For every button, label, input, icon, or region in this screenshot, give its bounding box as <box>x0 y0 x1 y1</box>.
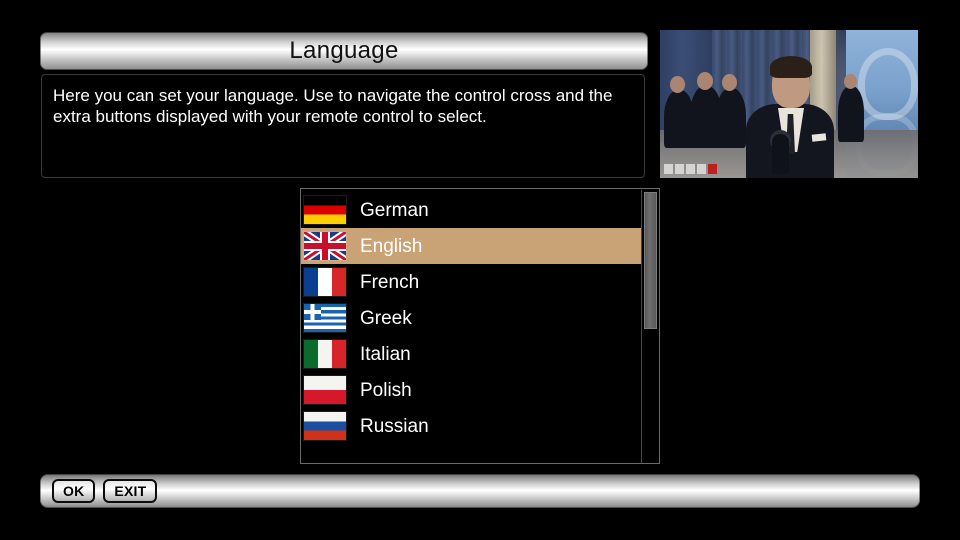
video-crowd-head <box>670 76 685 93</box>
video-crowd-head <box>697 72 713 90</box>
language-list-item-label: Greek <box>360 309 412 328</box>
description-text: Here you can set your language. Use to n… <box>53 85 632 128</box>
language-list-item[interactable]: Greek <box>301 300 643 336</box>
video-preview[interactable] <box>660 30 918 178</box>
language-list-item-label: Italian <box>360 345 411 364</box>
language-list-item-label: German <box>360 201 429 220</box>
language-list-item[interactable]: Russian <box>301 408 643 444</box>
language-list-item-label: English <box>360 237 422 256</box>
video-crowd-head <box>844 74 857 89</box>
language-list-item[interactable]: English <box>301 228 643 264</box>
tv-settings-screen: Language Here you can set your language.… <box>0 0 960 540</box>
language-list-item[interactable]: Polish <box>301 372 643 408</box>
exit-button[interactable]: EXIT <box>103 479 157 503</box>
flag-italy-icon <box>304 340 346 368</box>
language-list-item[interactable]: French <box>301 264 643 300</box>
flag-germany-icon <box>304 196 346 224</box>
title-bar: Language <box>40 32 648 70</box>
news-channel-logo <box>664 163 717 174</box>
video-presenter-pocket-square <box>812 133 827 141</box>
scrollbar-thumb[interactable] <box>644 192 657 329</box>
video-crowd-head <box>722 74 737 91</box>
language-list[interactable]: GermanEnglishFrenchGreekItalianPolishRus… <box>301 192 643 462</box>
video-presenter-hair <box>770 56 812 78</box>
language-list-item[interactable]: German <box>301 192 643 228</box>
flag-france-icon <box>304 268 346 296</box>
flag-russia-icon <box>304 412 346 440</box>
flag-greece-icon <box>304 304 346 332</box>
page-title: Language <box>289 39 398 63</box>
language-list-panel: GermanEnglishFrenchGreekItalianPolishRus… <box>300 188 660 464</box>
bottom-action-bar: OK EXIT <box>40 474 920 508</box>
language-list-item-label: Polish <box>360 381 412 400</box>
video-scene <box>660 30 918 178</box>
video-microphone <box>772 134 789 174</box>
scrollbar-track[interactable] <box>641 190 658 464</box>
description-panel: Here you can set your language. Use to n… <box>41 74 645 178</box>
flag-poland-icon <box>304 376 346 404</box>
flag-united-kingdom-icon <box>304 232 346 260</box>
language-list-item-label: Russian <box>360 417 429 436</box>
video-crowd-figure <box>716 88 746 148</box>
video-crowd-figure <box>838 86 864 142</box>
ok-button[interactable]: OK <box>52 479 95 503</box>
language-list-item-label: French <box>360 273 419 292</box>
language-list-item[interactable]: Italian <box>301 336 643 372</box>
